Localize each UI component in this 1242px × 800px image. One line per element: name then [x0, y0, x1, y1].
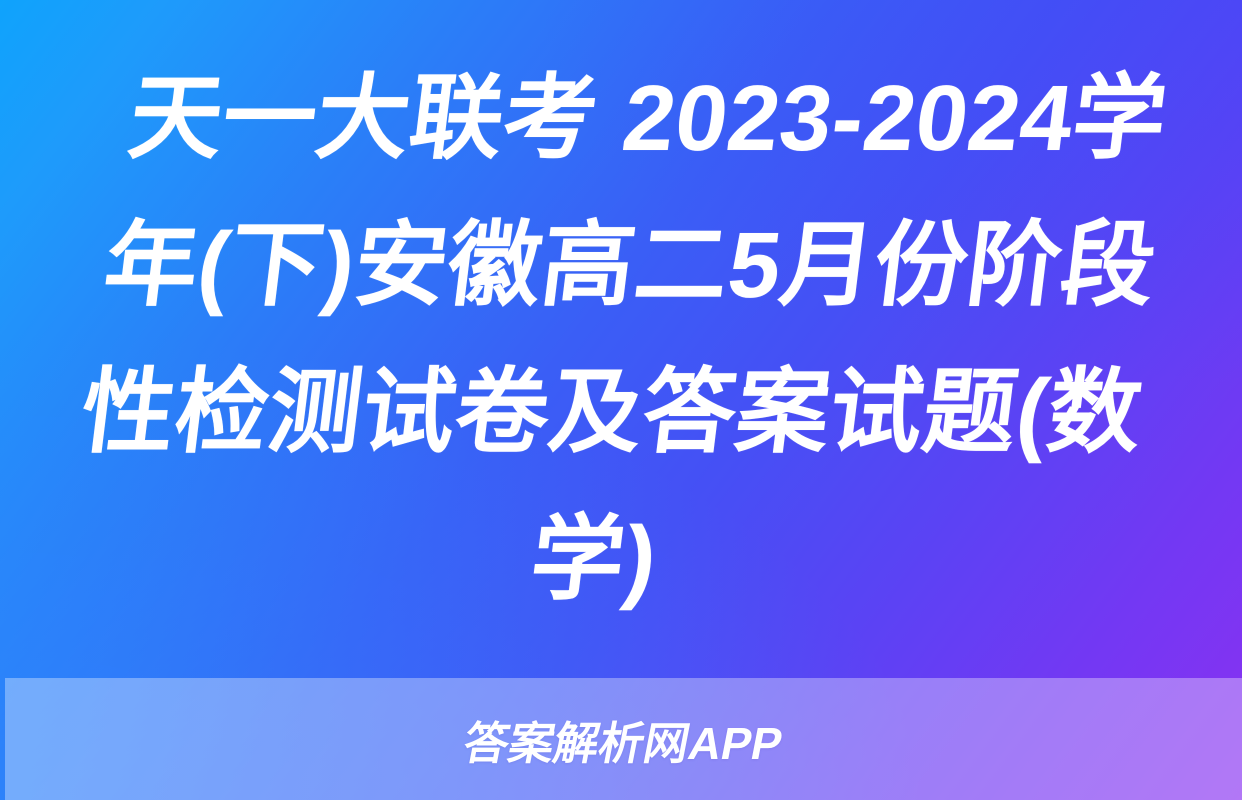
- watermark-bar: 答案解析网APP: [5, 678, 1242, 800]
- watermark-label: 答案解析网APP: [458, 707, 788, 772]
- page-title: 天一大联考 2023-2024学年(下)安徽高二5月份阶段性检测试卷及答案试题(…: [42, 45, 1200, 633]
- title-container: 天一大联考 2023-2024学年(下)安徽高二5月份阶段性检测试卷及答案试题(…: [0, 0, 1242, 678]
- poster-canvas: 天一大联考 2023-2024学年(下)安徽高二5月份阶段性检测试卷及答案试题(…: [0, 0, 1242, 800]
